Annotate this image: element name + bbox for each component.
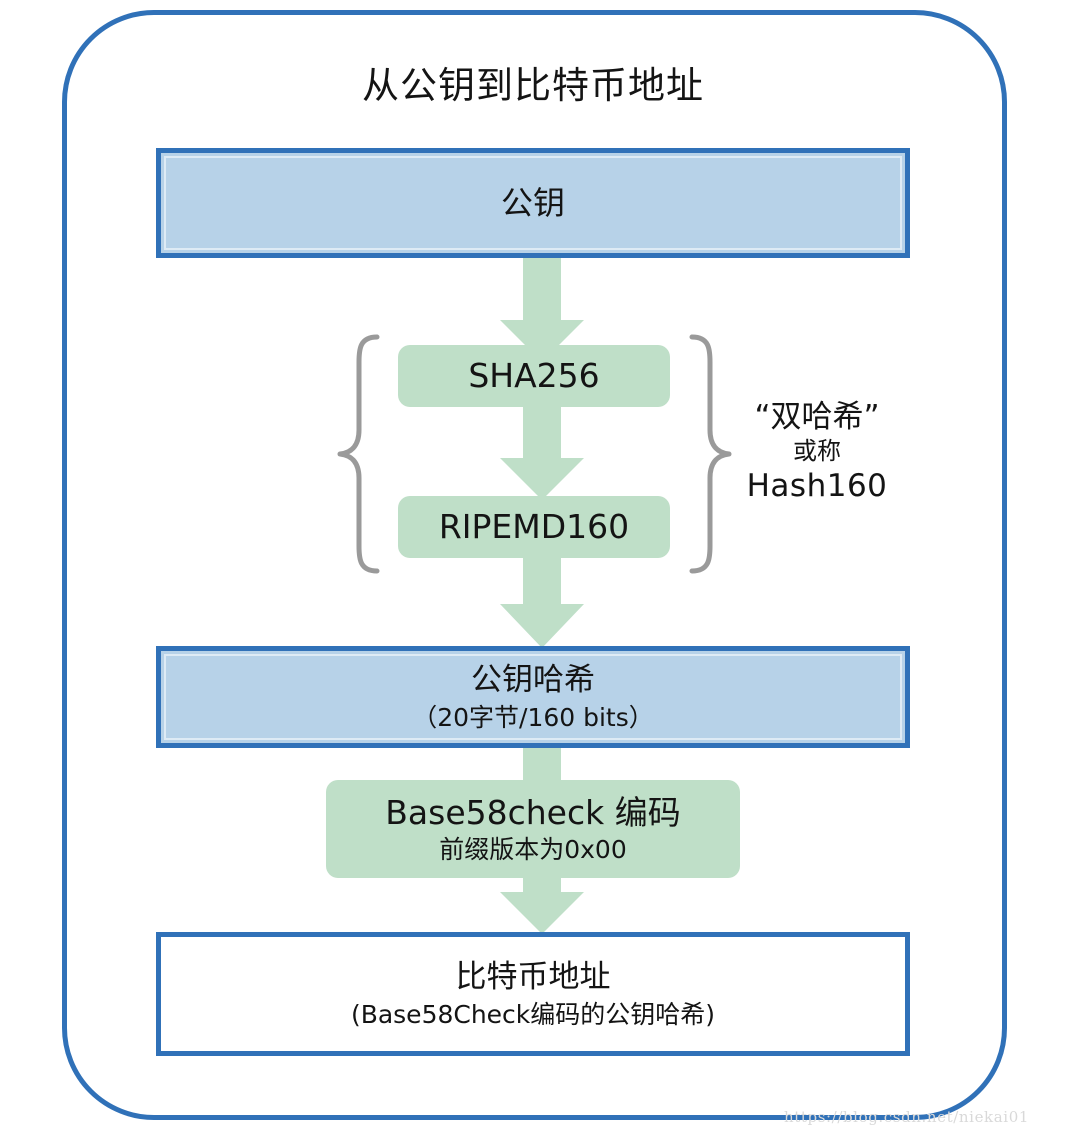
annotation-line-1: “双哈希” bbox=[722, 398, 912, 436]
node-ripemd160-label: RIPEMD160 bbox=[439, 506, 629, 548]
node-public-key: 公钥 bbox=[156, 148, 910, 258]
annotation-line-2: 或称 bbox=[722, 436, 912, 467]
node-sha256: SHA256 bbox=[398, 345, 670, 407]
node-base58check-label: Base58check 编码 bbox=[385, 792, 680, 834]
left-curly-brace-icon bbox=[340, 337, 377, 571]
node-sha256-label: SHA256 bbox=[468, 355, 599, 397]
node-bitcoin-address-sublabel: (Base58Check编码的公钥哈希) bbox=[351, 999, 715, 1031]
watermark-url: https://blog.csdn.net/niekai01 bbox=[784, 1108, 1029, 1126]
node-base58check-sublabel: 前缀版本为0x00 bbox=[439, 834, 627, 866]
node-bitcoin-address-label: 比特币地址 bbox=[456, 957, 611, 997]
node-public-key-hash-sublabel: （20字节/160 bits） bbox=[412, 702, 654, 734]
node-base58check: Base58check 编码 前缀版本为0x00 bbox=[326, 780, 740, 878]
node-public-key-hash: 公钥哈希 （20字节/160 bits） bbox=[156, 646, 910, 748]
double-hash-annotation: “双哈希” 或称 Hash160 bbox=[722, 398, 912, 505]
node-public-key-hash-label: 公钥哈希 bbox=[471, 660, 595, 700]
node-public-key-label: 公钥 bbox=[501, 183, 565, 223]
annotation-line-3: Hash160 bbox=[722, 467, 912, 505]
node-bitcoin-address: 比特币地址 (Base58Check编码的公钥哈希) bbox=[156, 932, 910, 1056]
diagram-canvas: 从公钥到比特币地址 公钥 SHA256 bbox=[0, 0, 1080, 1140]
node-ripemd160: RIPEMD160 bbox=[398, 496, 670, 558]
